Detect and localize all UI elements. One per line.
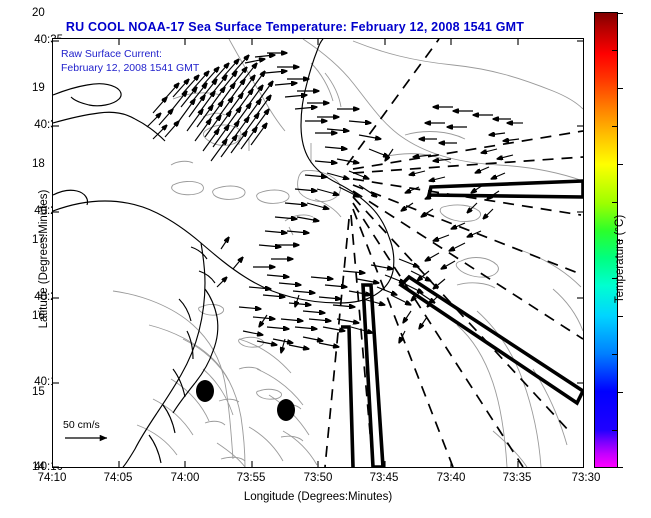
x-tick-label: 73:40 [437,472,466,484]
figure-title: RU COOL NOAA-17 Sea Surface Temperature:… [0,20,590,34]
x-tick-label: 73:50 [304,472,333,484]
x-tick-label: 74:05 [104,472,133,484]
colorbar-tick-label: 20 [32,7,45,19]
colorbar-tick-label: 19 [32,82,45,94]
x-axis-title: Longitude (Degrees:Minutes) [52,491,584,503]
station-marker [277,399,295,421]
annotation-line-1: Raw Surface Current: [61,47,199,61]
map-plot-area: Raw Surface Current: February 12, 2008 1… [52,38,584,468]
colorbar-tick-label: 17 [32,234,45,246]
colorbar-tick-label: 16 [32,310,45,322]
coastline [53,39,394,467]
x-tick-label: 74:10 [38,472,67,484]
station-markers [196,380,295,421]
scale-legend-label: 50 cm/s [63,419,119,431]
annotation-line-2: February 12, 2008 1541 GMT [61,61,199,75]
colorbar-tick-label: 15 [32,386,45,398]
x-tick-label: 73:55 [237,472,266,484]
colorbar-tick-label: 14 [32,461,45,473]
x-tick-label: 73:30 [572,472,601,484]
radar-beam-rays [325,39,583,467]
x-tick-label: 73:45 [370,472,399,484]
x-tick-label: 74:00 [171,472,200,484]
colorbar-title: Temperature (°C) [614,159,626,359]
velocity-scale-legend: 50 cm/s [63,419,119,447]
x-tick-label: 73:35 [503,472,532,484]
figure-root: RU COOL NOAA-17 Sea Surface Temperature:… [0,0,651,518]
right-arrow-icon [63,432,119,444]
station-marker [196,380,214,402]
colorbar-tick-label: 18 [32,158,45,170]
raw-surface-current-annotation: Raw Surface Current: February 12, 2008 1… [61,47,199,75]
map-svg [53,39,583,467]
